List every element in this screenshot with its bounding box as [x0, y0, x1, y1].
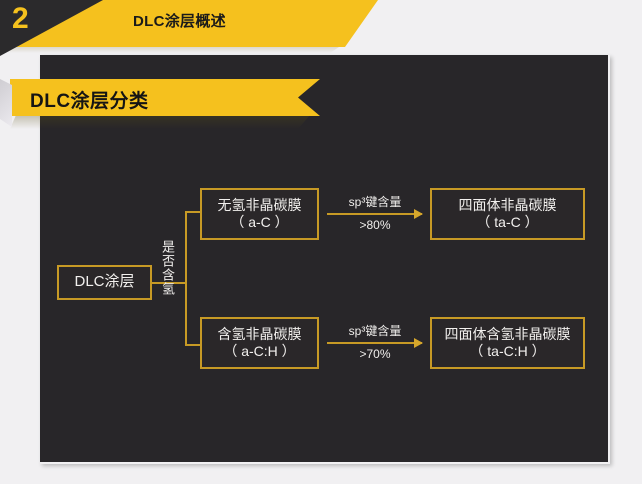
node-a-c-h: 含氢非晶碳膜 （ a-C:H ） — [200, 317, 319, 369]
arrow-bottom-condition: sp³键含量 — [323, 322, 427, 339]
node-ta-c-line2: （ ta-C ） — [476, 214, 538, 232]
node-a-c-h-line2: （ a-C:H ） — [223, 343, 295, 361]
arrow-top — [327, 213, 422, 215]
node-ta-c-h-line2: （ ta-C:H ） — [469, 343, 545, 361]
flowchart: DLC涂层 是否含氢 无氢非晶碳膜 （ a-C ） 含氢非晶碳膜 （ a-C:H… — [40, 55, 608, 462]
arrow-bottom-threshold: >70% — [323, 347, 427, 361]
node-a-c-line1: 无氢非晶碳膜 — [218, 197, 302, 215]
node-dlc-coating-label: DLC涂层 — [74, 273, 134, 292]
header-title: DLC涂层概述 — [133, 10, 226, 31]
slide-number: 2 — [12, 2, 29, 35]
node-ta-c: 四面体非晶碳膜 （ ta-C ） — [430, 188, 585, 240]
node-ta-c-h: 四面体含氢非晶碳膜 （ ta-C:H ） — [430, 317, 585, 369]
arrow-top-threshold: >80% — [323, 218, 427, 232]
connector-branch-spine — [185, 211, 187, 346]
node-ta-c-line1: 四面体非晶碳膜 — [459, 197, 557, 215]
arrow-bottom — [327, 342, 422, 344]
node-a-c-h-line1: 含氢非晶碳膜 — [218, 326, 302, 344]
section-banner-fold — [0, 79, 12, 127]
node-dlc-coating: DLC涂层 — [57, 265, 152, 300]
node-a-c-line2: （ a-C ） — [230, 214, 288, 232]
node-a-c: 无氢非晶碳膜 （ a-C ） — [200, 188, 319, 240]
branch-condition-label: 是否含氢 — [156, 240, 174, 296]
slide-canvas: 2 DLC涂层概述 DLC涂层分类 DLC涂层 是否含氢 无氢非晶碳膜 （ a-… — [0, 0, 642, 484]
node-ta-c-h-line1: 四面体含氢非晶碳膜 — [445, 326, 571, 344]
arrow-top-condition: sp³键含量 — [323, 193, 427, 210]
